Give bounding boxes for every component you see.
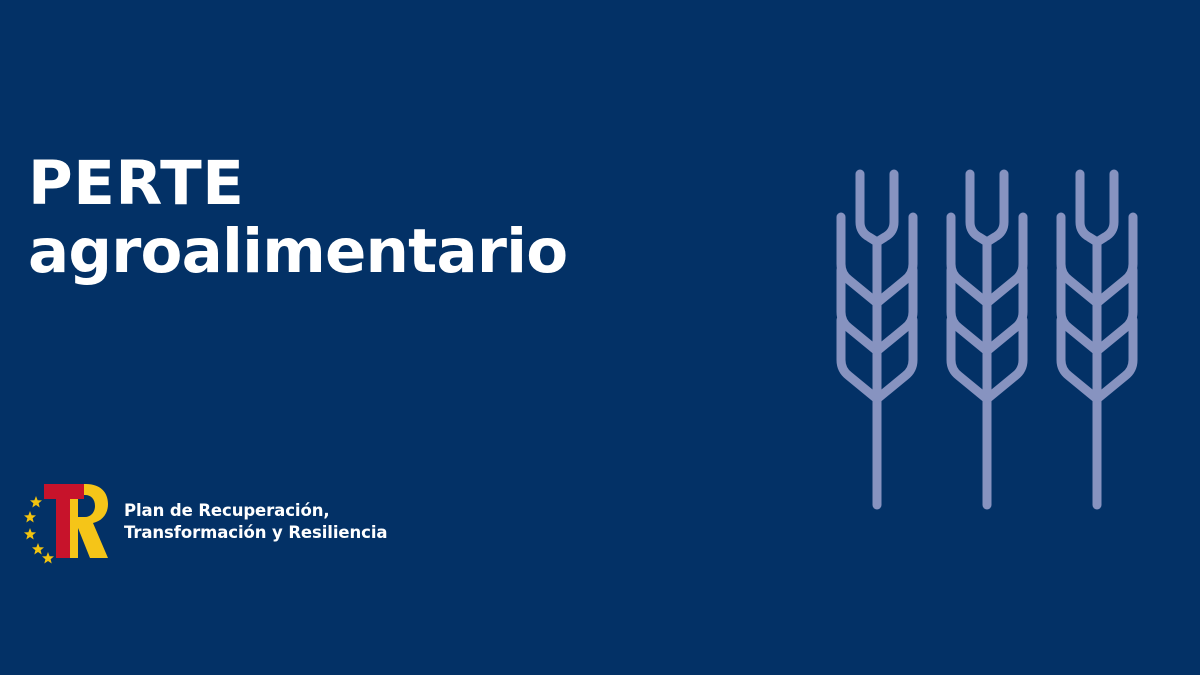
logo-text-line-1: Plan de Recuperación, (124, 500, 387, 522)
footer-logo: Plan de Recuperación, Transformación y R… (20, 478, 387, 564)
title-line-secondary: agroalimentario (28, 218, 668, 286)
wheat-stalk-1 (841, 174, 913, 505)
banner-canvas: PERTE agroalimentario (0, 0, 1200, 675)
wheat-stalks-icon (815, 160, 1175, 520)
logo-text: Plan de Recuperación, Transformación y R… (124, 498, 387, 544)
logo-mark-svg (20, 478, 112, 564)
page-title: PERTE agroalimentario (28, 150, 668, 287)
wheat-stalk-3 (1061, 174, 1133, 505)
wheat-stalk-2 (951, 174, 1023, 505)
eu-stars-icon (24, 496, 54, 564)
plan-de-recuperacion-logo-mark (20, 478, 112, 564)
title-line-primary: PERTE (28, 150, 668, 218)
wheat-stalks-svg (815, 160, 1175, 520)
logo-text-line-2: Transformación y Resiliencia (124, 522, 387, 544)
